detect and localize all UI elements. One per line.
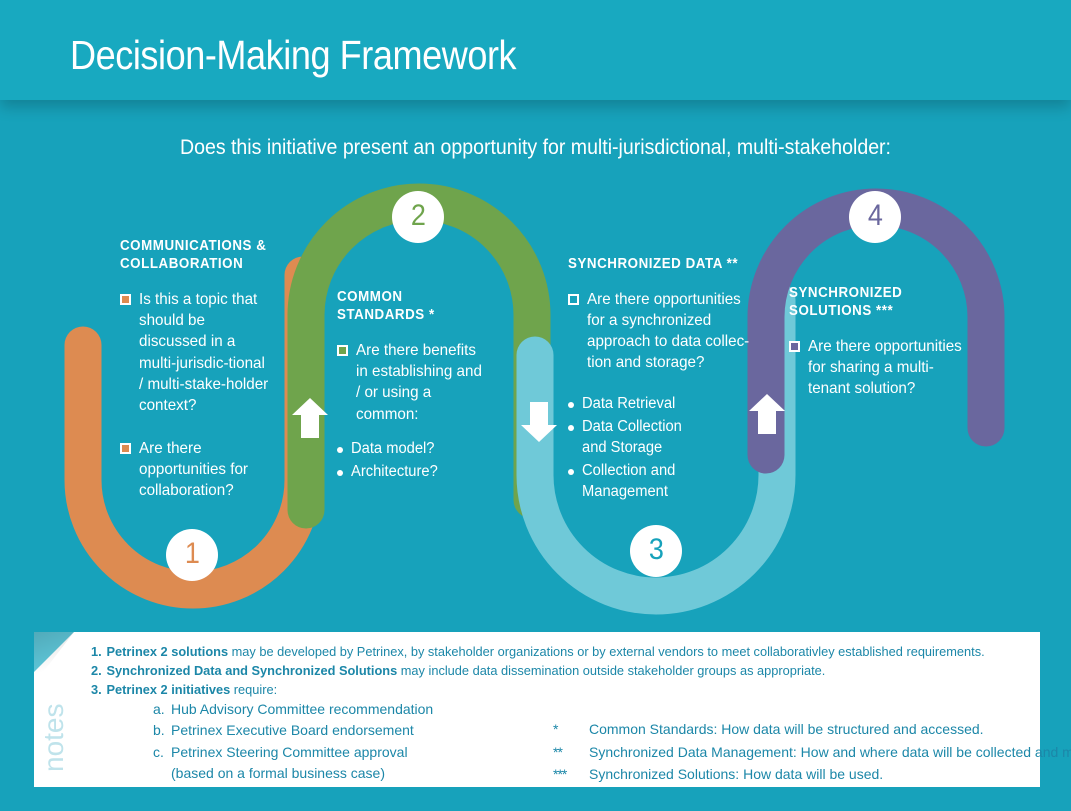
footnote-item: * Common Standards: How data will be str… [553, 718, 1071, 741]
note-item: 2.Synchronized Data and Synchronized Sol… [91, 661, 1002, 680]
footnote-text: Synchronized Solutions: How data will be… [589, 763, 883, 786]
bullet-item: Collection and Management [568, 461, 758, 502]
note-number: 3. [91, 680, 107, 699]
checklist-item[interactable]: Are there opportunities for a synchroniz… [568, 289, 758, 373]
note-text: may include data dissemination outside s… [397, 663, 825, 678]
notes-body: 1.Petrinex 2 solutions may be developed … [91, 642, 1030, 784]
page-title: Decision-Making Framework [70, 32, 516, 79]
checklist-item-label: Is this a topic that should be discussed… [139, 289, 273, 416]
bullet-item-label: Data model? [351, 439, 434, 460]
footnote-item: *** Synchronized Solutions: How data wil… [553, 763, 1071, 786]
checklist-item-label: Are there opportunities for a synchroniz… [587, 289, 749, 373]
bullet-dot-icon [337, 470, 343, 476]
note-text: may be developed by Petrinex, by stakeho… [228, 644, 985, 659]
bullet-list: Data model? Architecture? [337, 439, 489, 483]
note-sub-letter: a. [153, 699, 171, 720]
footnote-text: Synchronized Data Management: How and wh… [589, 741, 1071, 764]
note-number: 2. [91, 661, 107, 680]
footnote-marker: *** [553, 763, 589, 786]
footnote-marker: ** [553, 741, 589, 764]
note-item: 3.Petrinex 2 initiatives require: [91, 680, 1002, 699]
checkbox-icon[interactable] [120, 294, 131, 305]
column-common-standards: COMMON STANDARDS * Are there benefits in… [337, 288, 489, 486]
note-bold-text: Petrinex 2 solutions [107, 644, 229, 659]
column-4-heading-line-2: SOLUTIONS *** [789, 302, 959, 320]
checklist-item-label: Are there opportunities for collaboratio… [139, 438, 273, 501]
bullet-item: Architecture? [337, 462, 489, 483]
footnote-item: ** Synchronized Data Management: How and… [553, 741, 1071, 764]
checklist-item[interactable]: Is this a topic that should be discussed… [120, 289, 280, 416]
column-1-heading-line-2: COLLABORATION [120, 255, 267, 273]
bullet-item: Data model? [337, 439, 489, 460]
bullet-item: Data Retrieval [568, 394, 758, 415]
checklist-item[interactable]: Are there opportunities for sharing a mu… [789, 336, 974, 399]
note-sub-letter: c. [153, 742, 171, 763]
column-3-heading: SYNCHRONIZED DATA ** [568, 255, 743, 273]
notes-card: notes 1.Petrinex 2 solutions may be deve… [34, 632, 1040, 787]
checkbox-icon[interactable] [120, 443, 131, 454]
bullet-dot-icon [568, 425, 574, 431]
column-synchronized-solutions: SYNCHRONIZED SOLUTIONS *** Are there opp… [789, 284, 974, 414]
bullet-dot-icon [568, 402, 574, 408]
bullet-item-label: Collection and Management [582, 461, 687, 502]
bullet-item: Data Collection and Storage [568, 417, 758, 458]
footnote-text: Common Standards: How data will be struc… [589, 718, 984, 741]
notes-label: notes [38, 672, 78, 772]
note-sub-text: Petrinex Steering Committee approval [171, 744, 408, 760]
column-synchronized-data: SYNCHRONIZED DATA ** Are there opportuni… [568, 255, 758, 506]
note-sub-letter: b. [153, 720, 171, 741]
note-bold-text: Synchronized Data and Synchronized Solut… [107, 663, 398, 678]
step-badge-3: 3 [630, 525, 682, 577]
page-header: Decision-Making Framework [0, 0, 1071, 100]
note-sub-text: Hub Advisory Committee recommendation [171, 701, 433, 717]
step-badge-4: 4 [849, 191, 901, 243]
step-badge-1: 1 [166, 529, 218, 581]
bullet-item-label: Architecture? [351, 462, 438, 483]
footnote-marker: * [553, 718, 589, 741]
checklist-item-label: Are there opportunities for sharing a mu… [808, 336, 966, 399]
column-4-heading-line-1: SYNCHRONIZED [789, 284, 959, 302]
bullet-item-label: Data Retrieval [582, 394, 675, 415]
bullet-dot-icon [337, 447, 343, 453]
column-communications-collaboration: COMMUNICATIONS & COLLABORATION Is this a… [120, 237, 280, 515]
column-1-heading-line-1: COMMUNICATIONS & [120, 237, 267, 255]
bullet-item-label: Data Collection and Storage [582, 417, 696, 458]
checkbox-icon[interactable] [337, 345, 348, 356]
bullet-list: Data Retrieval Data Collection and Stora… [568, 394, 758, 503]
step-badge-2: 2 [392, 191, 444, 243]
checkbox-icon[interactable] [789, 341, 800, 352]
note-sub-text: Petrinex Executive Board endorsement [171, 722, 414, 738]
column-2-heading: COMMON STANDARDS * [337, 288, 477, 324]
footnote-legend: * Common Standards: How data will be str… [553, 718, 1071, 786]
note-item: 1.Petrinex 2 solutions may be developed … [91, 642, 1002, 661]
bullet-dot-icon [568, 469, 574, 475]
checklist-item-label: Are there benefits in establishing and /… [356, 340, 482, 424]
column-4-heading: SYNCHRONIZED SOLUTIONS *** [789, 284, 959, 320]
checklist-item[interactable]: Are there opportunities for collaboratio… [120, 438, 280, 501]
column-1-heading: COMMUNICATIONS & COLLABORATION [120, 237, 267, 273]
note-text: require: [230, 682, 277, 697]
note-number: 1. [91, 642, 107, 661]
checkbox-icon[interactable] [568, 294, 579, 305]
note-bold-text: Petrinex 2 initiatives [107, 682, 231, 697]
checklist-item[interactable]: Are there benefits in establishing and /… [337, 340, 489, 424]
